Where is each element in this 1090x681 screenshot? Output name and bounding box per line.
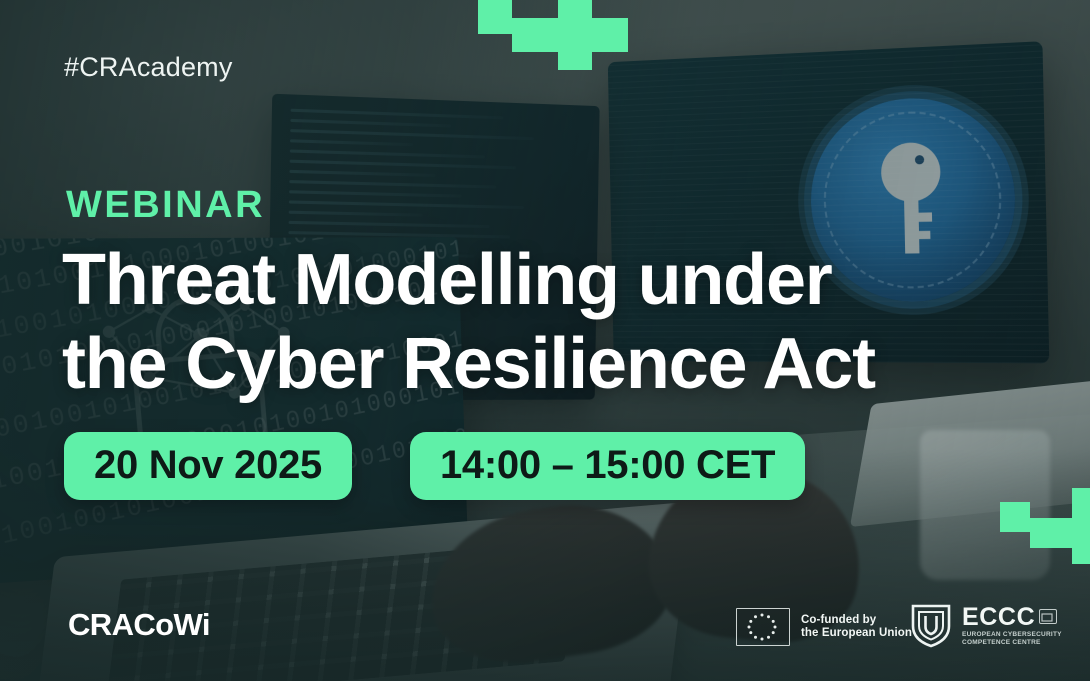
title-line-1: Threat Modelling under — [62, 238, 1042, 322]
banner-content: #CRAcademy WEBINAR Threat Modelling unde… — [0, 0, 1090, 681]
title-line-2: the Cyber Resilience Act — [62, 322, 1042, 406]
time-badge: 14:00 – 15:00 CET — [410, 432, 805, 500]
eccc-shield-icon — [910, 602, 952, 648]
cracowi-logo: CRACoWi — [68, 607, 210, 643]
date-badge: 20 Nov 2025 — [64, 432, 352, 500]
eu-funding-line-2: the European Union — [801, 627, 912, 641]
event-details: 20 Nov 2025 14:00 – 15:00 CET — [64, 432, 805, 500]
eccc-emblem-icon — [1039, 609, 1057, 624]
hashtag-label: #CRAcademy — [64, 52, 233, 83]
eu-funding-logo: Co-funded by the European Union — [736, 608, 912, 646]
eccc-subtitle-line-1: EUROPEAN CYBERSECURITY — [962, 631, 1062, 639]
eccc-subtitle-line-2: COMPETENCE CENTRE — [962, 639, 1062, 647]
eu-flag-icon — [736, 608, 790, 646]
eu-stars-icon — [737, 609, 787, 643]
eu-funding-line-1: Co-funded by — [801, 614, 912, 628]
kicker-label: WEBINAR — [66, 184, 265, 227]
eccc-text-block: ECCC EUROPEAN CYBERSECURITY COMPETENCE C… — [962, 603, 1062, 647]
eccc-name: ECCC — [962, 605, 1035, 629]
eccc-logo: ECCC EUROPEAN CYBERSECURITY COMPETENCE C… — [910, 602, 1062, 648]
page-title: Threat Modelling under the Cyber Resilie… — [62, 238, 1042, 406]
eccc-title-row: ECCC — [962, 605, 1062, 629]
webinar-banner: 0101001001010010100010100101000101001010… — [0, 0, 1090, 681]
eccc-subtitle: EUROPEAN CYBERSECURITY COMPETENCE CENTRE — [962, 631, 1062, 647]
eccc-emblem-glyph-icon — [1040, 612, 1054, 623]
eu-funding-text: Co-funded by the European Union — [801, 614, 912, 641]
